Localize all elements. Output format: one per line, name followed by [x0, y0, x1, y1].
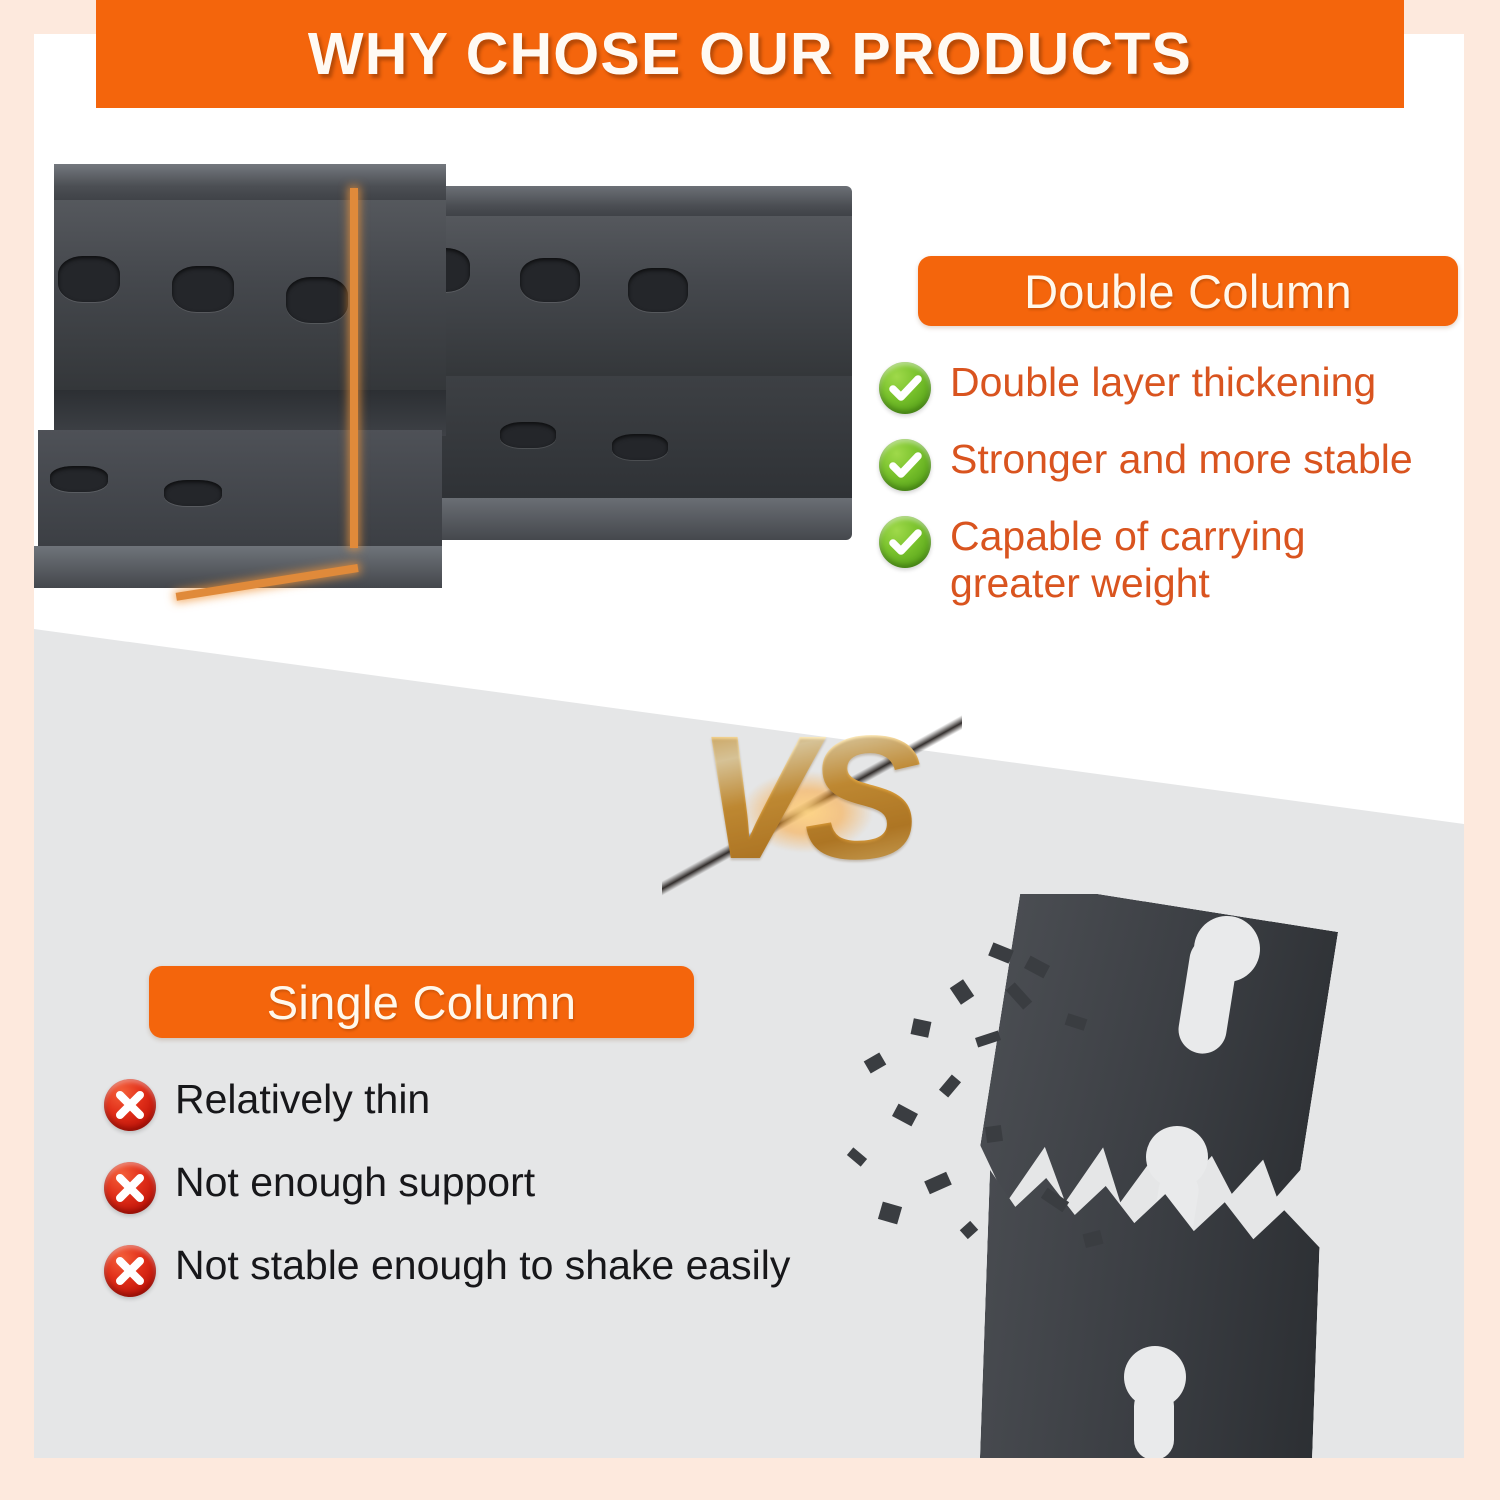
x-circle-icon	[104, 1162, 156, 1214]
list-item: Not enough support	[104, 1159, 904, 1214]
keyhole-slot	[628, 268, 688, 312]
debris-fragment	[864, 1052, 887, 1073]
list-item: Double layer thickening	[879, 359, 1464, 414]
badge-single-column-label: Single Column	[267, 975, 577, 1030]
rail-front	[34, 164, 444, 634]
list-item: Relatively thin	[104, 1076, 904, 1131]
x-circle-icon	[104, 1245, 156, 1297]
badge-double-column: Double Column	[918, 256, 1458, 326]
single-column-feature-list: Relatively thin Not enough support Not s…	[104, 1076, 904, 1325]
list-item-label: Relatively thin	[175, 1076, 430, 1123]
list-item-label: Double layer thickening	[950, 359, 1376, 406]
list-item: Stronger and more stable	[879, 436, 1464, 491]
keyhole-slot	[1134, 1386, 1174, 1458]
copper-edge-highlight	[350, 188, 358, 548]
vs-divider: VS	[654, 664, 954, 954]
header-banner: WHY CHOSE OUR PRODUCTS	[96, 0, 1404, 108]
list-item-label: Stronger and more stable	[950, 436, 1413, 483]
keyhole-slot	[50, 466, 108, 492]
debris-fragment	[985, 1125, 1003, 1143]
list-item: Not stable enough to shake easily	[104, 1242, 904, 1297]
check-circle-icon	[879, 439, 931, 491]
keyhole-slot	[286, 277, 348, 323]
x-circle-icon	[104, 1079, 156, 1131]
double-column-rails-photo	[34, 134, 864, 654]
keyhole-slot	[172, 266, 234, 312]
keyhole-slot	[164, 480, 222, 506]
debris-fragment	[924, 1172, 952, 1195]
check-circle-icon	[879, 516, 931, 568]
debris-fragment	[911, 1018, 932, 1037]
keyhole-slot	[58, 256, 120, 302]
keyhole-slot	[520, 258, 580, 302]
keyhole-slot	[500, 422, 556, 448]
debris-fragment	[960, 1221, 978, 1239]
badge-single-column: Single Column	[149, 966, 694, 1038]
badge-double-column-label: Double Column	[1024, 264, 1352, 319]
rail-back	[382, 186, 852, 616]
double-column-feature-list: Double layer thickening Stronger and mor…	[879, 359, 1464, 629]
list-item-label: Not stable enough to shake easily	[175, 1242, 790, 1289]
list-item: Capable of carrying greater weight	[879, 513, 1359, 607]
content-card: VS	[34, 34, 1464, 1458]
keyhole-slot	[612, 434, 668, 460]
list-item-label: Not enough support	[175, 1159, 535, 1206]
debris-fragment	[939, 1074, 961, 1097]
page-title: WHY CHOSE OUR PRODUCTS	[308, 20, 1192, 88]
poster-root: VS	[0, 0, 1500, 1500]
check-circle-icon	[879, 362, 931, 414]
debris-fragment	[950, 979, 974, 1005]
list-item-label: Capable of carrying greater weight	[950, 513, 1359, 607]
vs-label: VS	[654, 678, 954, 918]
